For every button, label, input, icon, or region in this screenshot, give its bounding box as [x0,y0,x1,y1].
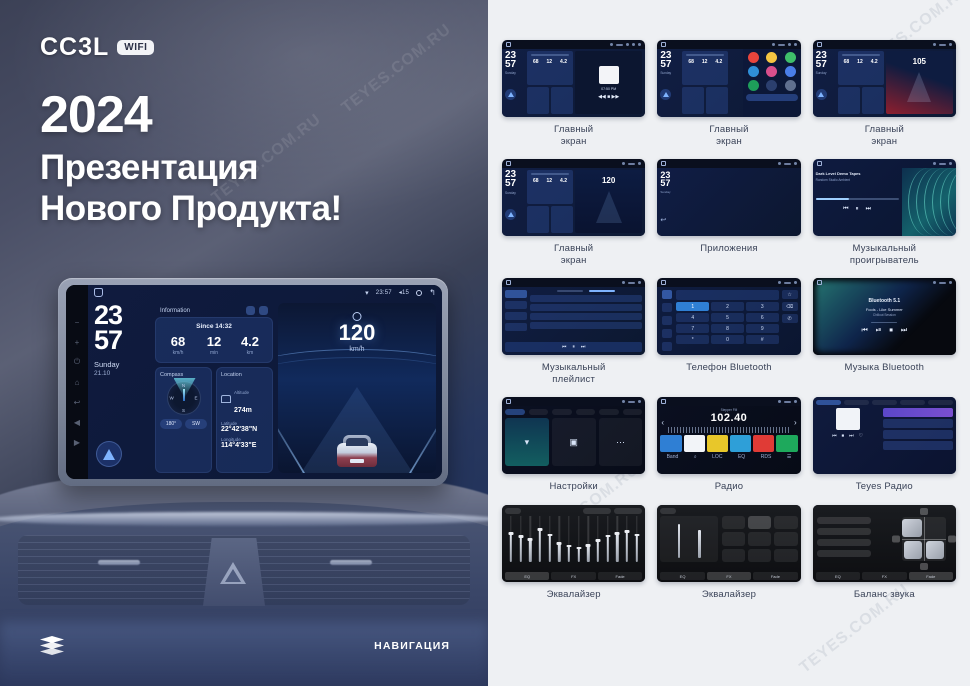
playback-controls[interactable]: ⏮ ⏸ ⏭ [816,206,899,213]
dial-key[interactable]: * [676,335,709,344]
thumbnail-image[interactable]: ▾ ▣ ⋯ [502,397,645,474]
preset-station[interactable] [730,435,751,452]
settings-cards[interactable]: ▾ ▣ ⋯ [505,418,642,466]
thumbnail-caption: Музыка Bluetooth [845,362,925,374]
mini-line [842,54,880,56]
mini-clock: 23 57 Sunday ↩ [660,171,682,233]
settings-card-wifi[interactable]: ▾ [505,418,549,466]
slider-right[interactable] [698,530,700,558]
tab-all[interactable] [557,290,583,292]
mini-driving-view: 120 [575,170,642,233]
track-row[interactable] [530,295,642,302]
balance-presets[interactable] [817,517,871,557]
mini-home-layout: 23 57 Sunday 68 12 4.2 [502,49,645,117]
car-rear-window [346,438,368,446]
balance-pad[interactable] [902,517,946,561]
next-icon[interactable]: ⏭ [866,206,871,213]
preset-chip[interactable] [660,508,676,514]
search-icon[interactable]: ⌕ [694,454,697,460]
altitude-row: Altitude 274m [221,381,268,417]
play-pause-icon[interactable]: ⏯ [876,327,882,335]
mini-line [531,54,569,56]
track-row[interactable] [530,304,642,311]
progress-bar[interactable] [871,322,897,323]
gallery-item[interactable]: ▾ ▣ ⋯ Настройки [502,397,645,493]
side-button-plus-icon[interactable]: + [73,338,82,347]
eq-button[interactable]: EQ [738,454,745,460]
effect-presets[interactable] [722,516,798,562]
band-button[interactable]: Band [667,454,679,460]
thumbnail-image[interactable]: Stepper FM 102.40 ‹ › [657,397,800,474]
rds-button[interactable]: RDS [761,454,772,460]
gallery-item[interactable]: 23 57 Sunday 68 12 4.2 [502,159,645,266]
thumbnail-image[interactable]: Bluetooth 5.1 Fools - Like Summer Chillo… [813,278,956,355]
side-button-home-icon[interactable]: ⌂ [73,378,82,387]
clock-widget: 23 57 Sunday 21.10 [94,303,150,473]
equalizer-toolbar[interactable]: EQ FX Fade [505,572,642,580]
tab-fader[interactable]: Fade [753,572,797,580]
pause-icon[interactable]: ⏸ [572,344,575,350]
equalizer-band[interactable] [517,516,525,562]
wifi-icon [622,281,625,284]
band-knob[interactable] [595,539,600,542]
band-knob[interactable] [518,535,523,538]
tab-general[interactable] [599,409,619,415]
equalizer-band[interactable] [555,516,563,562]
thumbnail-image[interactable]: 23 57 Sunday 68 12 4.2 [813,40,956,117]
side-button-minus-icon[interactable]: − [73,318,82,327]
call-icon[interactable]: ✆ [782,314,798,323]
tab-genres[interactable] [844,400,869,405]
thumbnail-caption: Главныйэкран [865,124,904,147]
slider-left[interactable] [678,524,680,558]
thumbnail-image[interactable]: EQ FX Fade [502,505,645,582]
station-row[interactable] [883,430,953,439]
tab-effects[interactable]: FX [707,572,751,580]
gallery-icon [766,66,777,77]
axis-vertical [924,517,925,561]
mini-status-right [622,400,641,403]
information-actions[interactable] [246,306,268,315]
track-row[interactable] [530,322,642,329]
preset-driver[interactable] [817,517,871,524]
volume-value: ◂15 [399,289,409,296]
band-knob[interactable] [624,530,629,533]
track-title: Fools - Like Summer [861,307,907,312]
equalizer-band[interactable] [575,516,583,562]
bluetooth-music-layout: Bluetooth 5.1 Fools - Like Summer Chillo… [813,278,956,355]
list-icon[interactable]: ☰ [787,454,791,460]
preset-chip[interactable] [505,508,521,514]
speaker-rear-left[interactable] [904,541,922,559]
loc-button[interactable]: LOC [712,454,722,460]
navigation-arrow-icon [103,449,115,460]
thumbnail-image[interactable]: 23 57 Sunday ↩ [657,159,800,236]
preset-front[interactable] [817,528,871,535]
station-row[interactable] [883,408,953,417]
mini-clock-weekday: Sunday [660,190,682,194]
head-unit-screen[interactable]: ▾ 23:57 ◂15 ↰ 23 57 Sunday [88,285,442,479]
preset-button[interactable] [748,532,771,545]
stop-icon[interactable]: ⏹ [842,433,845,439]
band-knob[interactable] [634,534,639,537]
mini-info-card: 68 12 4.2 [682,51,728,85]
settings-card-more[interactable]: ⋯ [599,418,643,466]
track-artist: Random Studio Ambient [816,178,899,182]
dial-key[interactable]: 0 [711,335,744,344]
band-knob[interactable] [615,532,620,535]
tune-down-icon[interactable]: ‹ [661,418,664,427]
thumbnail-image[interactable]: 23 57 Sunday 68 12 4.2 [657,40,800,117]
equalizer-toolbar[interactable]: EQ FX Fade [660,572,797,580]
arrow-down-icon[interactable] [920,563,928,570]
gear-icon [949,43,952,46]
preset-rear[interactable] [817,539,871,546]
dial-key[interactable]: 7 [676,324,709,333]
gallery-item[interactable]: Stepper FM 102.40 ‹ › [657,397,800,493]
trip-stat-value: 12 [196,335,232,348]
thumbnail-caption: Музыкальныйпроигрыватель [850,243,919,266]
band-fill [519,537,521,562]
sidebar-item-search[interactable] [505,301,527,309]
clock-icon [939,44,946,46]
dial-key[interactable]: 4 [676,313,709,322]
browser-icon [766,80,777,91]
preset-button[interactable] [722,532,745,545]
hazard-triangle-icon[interactable] [220,562,246,584]
tab-fader[interactable]: Fade [598,572,642,580]
compass-bearing: 180° [160,419,182,429]
mini-status-right [933,43,952,46]
gallery-item[interactable]: ⏮ ⏹ ⏭ ♡ [813,397,956,493]
gallery-item[interactable]: Dark Level Demo Tapes Random Studio Ambi… [813,159,956,266]
favorite-icon[interactable]: ♡ [859,433,863,439]
thumbnail-caption: Главныйэкран [554,243,593,266]
sidebar-item-settings[interactable] [662,342,672,351]
mini-clock: 23 57 Sunday [816,51,836,114]
app-icon-grid[interactable] [686,171,797,233]
dial-key[interactable]: # [746,335,779,344]
dial-key[interactable]: 3 [746,302,779,311]
equalizer-band[interactable] [536,516,544,562]
band-knob[interactable] [508,532,513,535]
youtube-icon [748,52,759,63]
side-button-next-icon[interactable]: ▶ [73,438,82,447]
gallery-item[interactable]: ⏮ ⏸ ⏭ Музыкальныйплейлист [502,278,645,385]
backspace-icon[interactable]: ⌫ [782,302,798,311]
logo-model-text: CC3L [40,33,109,62]
thumbnail-image[interactable]: EQ FX Fade [813,505,956,582]
mini-stat: 68 [533,59,539,65]
tab-effects[interactable]: FX [862,572,906,580]
equalizer-band[interactable] [604,516,612,562]
widget-row: Compass N E S W [155,367,273,473]
mini-status-right [622,162,641,165]
expand-icon[interactable] [259,306,268,315]
mini-line [686,54,724,56]
settings-tabs[interactable] [505,409,642,415]
equalizer-band[interactable] [623,516,631,562]
speaker-rear-right[interactable] [926,541,944,559]
next-icon[interactable]: ⏭ [901,327,907,335]
equalizer-band[interactable] [613,516,621,562]
equalizer-header[interactable] [505,508,642,514]
thumbnail-image[interactable]: 1 2 3 4 5 6 7 8 9 * 0 # [657,278,800,355]
trip-stat-unit: km/h [160,350,196,356]
station-list[interactable] [883,408,953,460]
vent-slot-right [330,560,372,565]
preset-button[interactable] [774,532,797,545]
arrow-right-icon[interactable] [948,536,956,543]
equalizer-band[interactable] [633,516,641,562]
mini-clock: 23 57 Sunday [660,51,680,114]
gallery-item[interactable]: EQ FX Fade Эквалайзер [502,505,645,601]
tab-display[interactable] [552,409,572,415]
mini-clock-minutes: 57 [505,179,525,188]
refresh-icon[interactable] [246,306,255,315]
band-knob[interactable] [566,545,571,548]
home-icon [506,42,511,47]
thumbnail-caption: Настройки [549,481,597,493]
tab-system[interactable] [623,409,643,415]
band-knob[interactable] [537,528,542,531]
settings-card-carplay[interactable]: ▣ [552,418,596,466]
thumbnail-caption: Эквалайзер [547,589,601,601]
dial-key[interactable]: 8 [711,324,744,333]
equalizer-band[interactable] [594,516,602,562]
thumbnail-image[interactable]: ⏮ ⏹ ⏭ ♡ [813,397,956,474]
compass-mark-e: E [194,396,197,401]
preset-station[interactable] [684,435,705,452]
tab-search[interactable] [928,400,953,405]
equalizer-bands[interactable] [505,516,642,562]
sidebar-item-favorites[interactable] [505,312,527,320]
gallery-item[interactable]: 23 57 Sunday 68 12 4.2 [657,40,800,147]
tab-fader[interactable]: Fade [909,572,953,580]
effect-sliders[interactable] [660,516,718,562]
side-button-power-icon[interactable]: ⏻ [73,358,82,367]
previous-icon[interactable]: ⏮ [562,344,567,350]
mini-widget-row [527,206,573,233]
preset-station[interactable] [753,435,774,452]
balance-toolbar[interactable]: EQ FX Fade [816,572,953,580]
home-icon [661,42,666,47]
gear-icon [638,281,641,284]
wifi-icon [778,281,781,284]
tab-eq[interactable]: EQ [660,572,704,580]
mini-clock: 23 57 Sunday [505,170,525,233]
tab-favorites[interactable] [900,400,925,405]
preset-button[interactable] [722,549,745,562]
tab-live[interactable] [816,400,841,405]
tab-eq[interactable]: EQ [816,572,860,580]
teyes-radio-tabs[interactable] [816,400,953,405]
band-fill [606,536,608,562]
thumbnail-caption: Главныйэкран [709,124,748,147]
preset-button[interactable] [774,549,797,562]
tab-apps[interactable] [576,409,596,415]
sidebar-item-tracks[interactable] [505,290,527,298]
thumbnail-image[interactable]: 23 57 Sunday 68 12 4.2 [502,159,645,236]
gear-icon [794,43,797,46]
mini-status-bar [502,40,645,49]
mini-trip-stats: 68 12 4.2 [840,59,882,65]
location-widget[interactable]: Location Altitude 274m [216,367,273,473]
favorite-icon[interactable]: ☆ [782,290,798,299]
mini-status-right [622,281,641,284]
album-art [599,66,619,84]
gallery-item[interactable]: 1 2 3 4 5 6 7 8 9 * 0 # [657,278,800,385]
gallery-item[interactable]: EQ FX Fade Баланс звука [813,505,956,601]
back-icon[interactable]: ↰ [429,288,436,297]
side-button-prev-icon[interactable]: ◀ [73,418,82,427]
playback-controls[interactable]: ⏮ ⏹ ⏭ ♡ [832,433,863,439]
car-body [337,443,377,467]
mini-road [596,191,622,223]
home-icon[interactable] [94,288,103,297]
thumbnail-caption: Телефон Bluetooth [686,362,772,374]
bluetooth-device-name: Bluetooth 5.1 [861,298,907,304]
teyes-radio-layout: ⏮ ⏹ ⏭ ♡ [813,397,956,474]
back-icon[interactable]: ↩ [660,216,682,224]
sidebar-item-dialpad[interactable] [662,290,672,299]
band-knob[interactable] [576,547,581,550]
sidebar-item-folders[interactable] [505,323,527,331]
tab-current[interactable] [589,290,615,292]
preset-chip[interactable] [583,508,611,514]
preset-button-active[interactable] [748,516,771,529]
station-row[interactable] [883,419,953,428]
track-row[interactable] [530,313,642,320]
gallery-item[interactable]: 23 57 Sunday 68 12 4.2 [813,40,956,147]
sidebar-item-contacts[interactable] [662,303,672,312]
tune-up-icon[interactable]: › [794,418,797,427]
mini-stat: 12 [702,59,708,65]
equalizer-header [660,508,797,514]
mini-widgets: 68 12 4.2 [838,51,884,114]
preset-button[interactable] [722,516,745,529]
station-row[interactable] [883,441,953,450]
thumbnail-image[interactable]: Dark Level Demo Tapes Random Studio Ambi… [813,159,956,236]
settings-layout: ▾ ▣ ⋯ [502,406,645,474]
thumbnail-image[interactable]: 23 57 Sunday 68 12 4.2 [502,40,645,117]
previous-icon[interactable]: ⏮ [843,206,848,213]
volume-icon [626,43,629,46]
slide-footer [40,636,64,656]
next-icon[interactable]: ⏭ [581,344,586,350]
preset-chip[interactable] [614,508,642,514]
preset-button[interactable] [748,549,771,562]
phone-sidebar[interactable] [660,290,673,352]
gallery-item[interactable]: EQ FX Fade Эквалайзер [657,505,800,601]
thumbnail-image[interactable]: EQ FX Fade [657,505,800,582]
gallery-item[interactable]: 23 57 Sunday ↩ [657,159,800,266]
mini-status-bar [657,40,800,49]
preset-all[interactable] [817,550,871,557]
dial-key[interactable]: 9 [746,324,779,333]
mini-trip-stats: 68 12 4.2 [529,59,571,65]
dialpad-actions[interactable]: ☆ ⌫ ✆ [782,290,798,352]
dialpad-keys[interactable]: 1 2 3 4 5 6 7 8 9 * 0 # [676,302,778,344]
tab-wifi[interactable] [505,409,525,415]
trip-since-label: Since 14:32 [160,323,268,330]
dial-key[interactable]: 2 [711,302,744,311]
sidebar-item-history[interactable] [662,329,672,338]
band-fill [597,541,599,562]
band-knob[interactable] [557,542,562,545]
band-knob[interactable] [605,535,610,538]
band-knob[interactable] [547,534,552,537]
equalizer-band[interactable] [565,516,573,562]
navigation-fab-button[interactable] [96,441,122,467]
radio-presets[interactable] [660,435,797,452]
previous-icon[interactable]: ⏮ [861,327,867,335]
arrow-left-icon[interactable] [892,536,900,543]
dial-key[interactable]: 6 [746,313,779,322]
carplay-icon: ▣ [569,437,578,448]
arrow-up-icon[interactable] [920,508,928,515]
compass-widget[interactable]: Compass N E S W [155,367,212,473]
teyes-radio-body: ⏮ ⏹ ⏭ ♡ [816,408,953,460]
compass-heading-cone [174,378,196,398]
stop-icon[interactable]: ⏹ [889,327,893,335]
speed-unit: km/h [278,346,436,353]
progress-bar[interactable] [816,198,899,200]
band-knob[interactable] [528,538,533,541]
dial-key[interactable]: 5 [711,313,744,322]
pause-icon[interactable]: ⏸ [856,206,859,213]
preset-button[interactable] [774,516,797,529]
driving-view-widget[interactable]: 120 km/h [278,303,436,473]
tab-countries[interactable] [872,400,897,405]
gear-icon[interactable] [416,290,422,296]
clock-icon [616,44,623,46]
gallery-item[interactable]: 23 57 Sunday 68 12 4.2 [502,40,645,147]
preset-station[interactable] [776,435,797,452]
speaker-front-right[interactable] [902,519,920,537]
head-unit-side-buttons[interactable]: − + ⏻ ⌂ ↩ ◀ ▶ [66,285,88,479]
tab-sound[interactable] [529,409,549,415]
thumbnail-image[interactable]: ⏮ ⏸ ⏭ [502,278,645,355]
equalizer-band[interactable] [584,516,592,562]
playback-controls[interactable]: ⏮ ⏯ ⏹ ⏭ [861,327,907,335]
now-playing-bar[interactable]: ⏮ ⏸ ⏭ [505,342,642,352]
preset-station[interactable] [707,435,728,452]
radio-toolbar[interactable]: Band ⌕ LOC EQ RDS ☰ [660,454,797,460]
longitude-row: Longitude 114°4'33"E [221,437,268,449]
next-icon[interactable]: ⏭ [849,433,854,439]
home-icon [661,161,666,166]
side-button-back-icon[interactable]: ↩ [73,398,82,407]
tab-effects[interactable]: FX [551,572,595,580]
mini-widget-row [838,87,884,114]
equalizer-band[interactable] [526,516,534,562]
mini-clock-minutes: 57 [660,179,682,187]
gallery-item[interactable]: Bluetooth 5.1 Fools - Like Summer Chillo… [813,278,956,385]
equalizer-band[interactable] [507,516,515,562]
previous-icon[interactable]: ⏮ [832,433,837,439]
radio-tune-controls[interactable]: ‹ › [661,418,796,427]
preset-station[interactable] [660,435,681,452]
playlist-tabs[interactable] [530,290,642,292]
band-knob[interactable] [586,544,591,547]
tab-eq[interactable]: EQ [505,572,549,580]
band-fill [616,534,618,563]
equalizer-band[interactable] [546,516,554,562]
mini-compass-card [527,87,549,114]
sidebar-item-search[interactable] [662,316,672,325]
dial-key[interactable]: 1 [676,302,709,311]
